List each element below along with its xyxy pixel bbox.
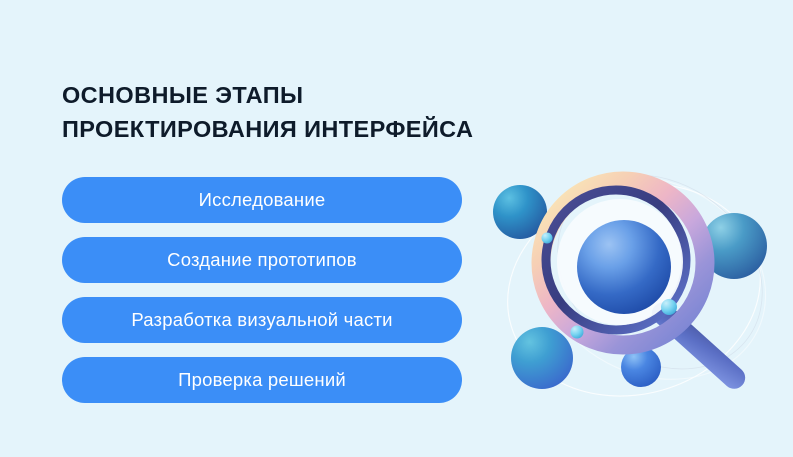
step-label: Исследование xyxy=(199,191,326,210)
dot-lower-left xyxy=(571,326,584,339)
dot-lens-right xyxy=(661,299,677,315)
step-label: Разработка визуальной части xyxy=(131,311,392,330)
sphere-bottom-left xyxy=(511,327,573,389)
step-button-visual-design[interactable]: Разработка визуальной части xyxy=(62,297,462,343)
lens-center-sphere xyxy=(577,220,671,314)
step-button-prototyping[interactable]: Создание прототипов xyxy=(62,237,462,283)
title-line-2: проектирования интерфейса xyxy=(62,112,522,146)
steps-list: Исследование Создание прототипов Разрабо… xyxy=(62,177,462,403)
step-label: Проверка решений xyxy=(178,371,346,390)
page-title: Основные этапы проектирования интерфейса xyxy=(62,78,522,146)
step-button-validation[interactable]: Проверка решений xyxy=(62,357,462,403)
magnifying-glass-illustration xyxy=(484,150,784,420)
step-button-research[interactable]: Исследование xyxy=(62,177,462,223)
step-label: Создание прототипов xyxy=(167,251,357,270)
title-line-1: Основные этапы xyxy=(62,78,522,112)
dot-upper-left xyxy=(542,233,553,244)
slide-canvas: Основные этапы проектирования интерфейса… xyxy=(0,0,793,457)
